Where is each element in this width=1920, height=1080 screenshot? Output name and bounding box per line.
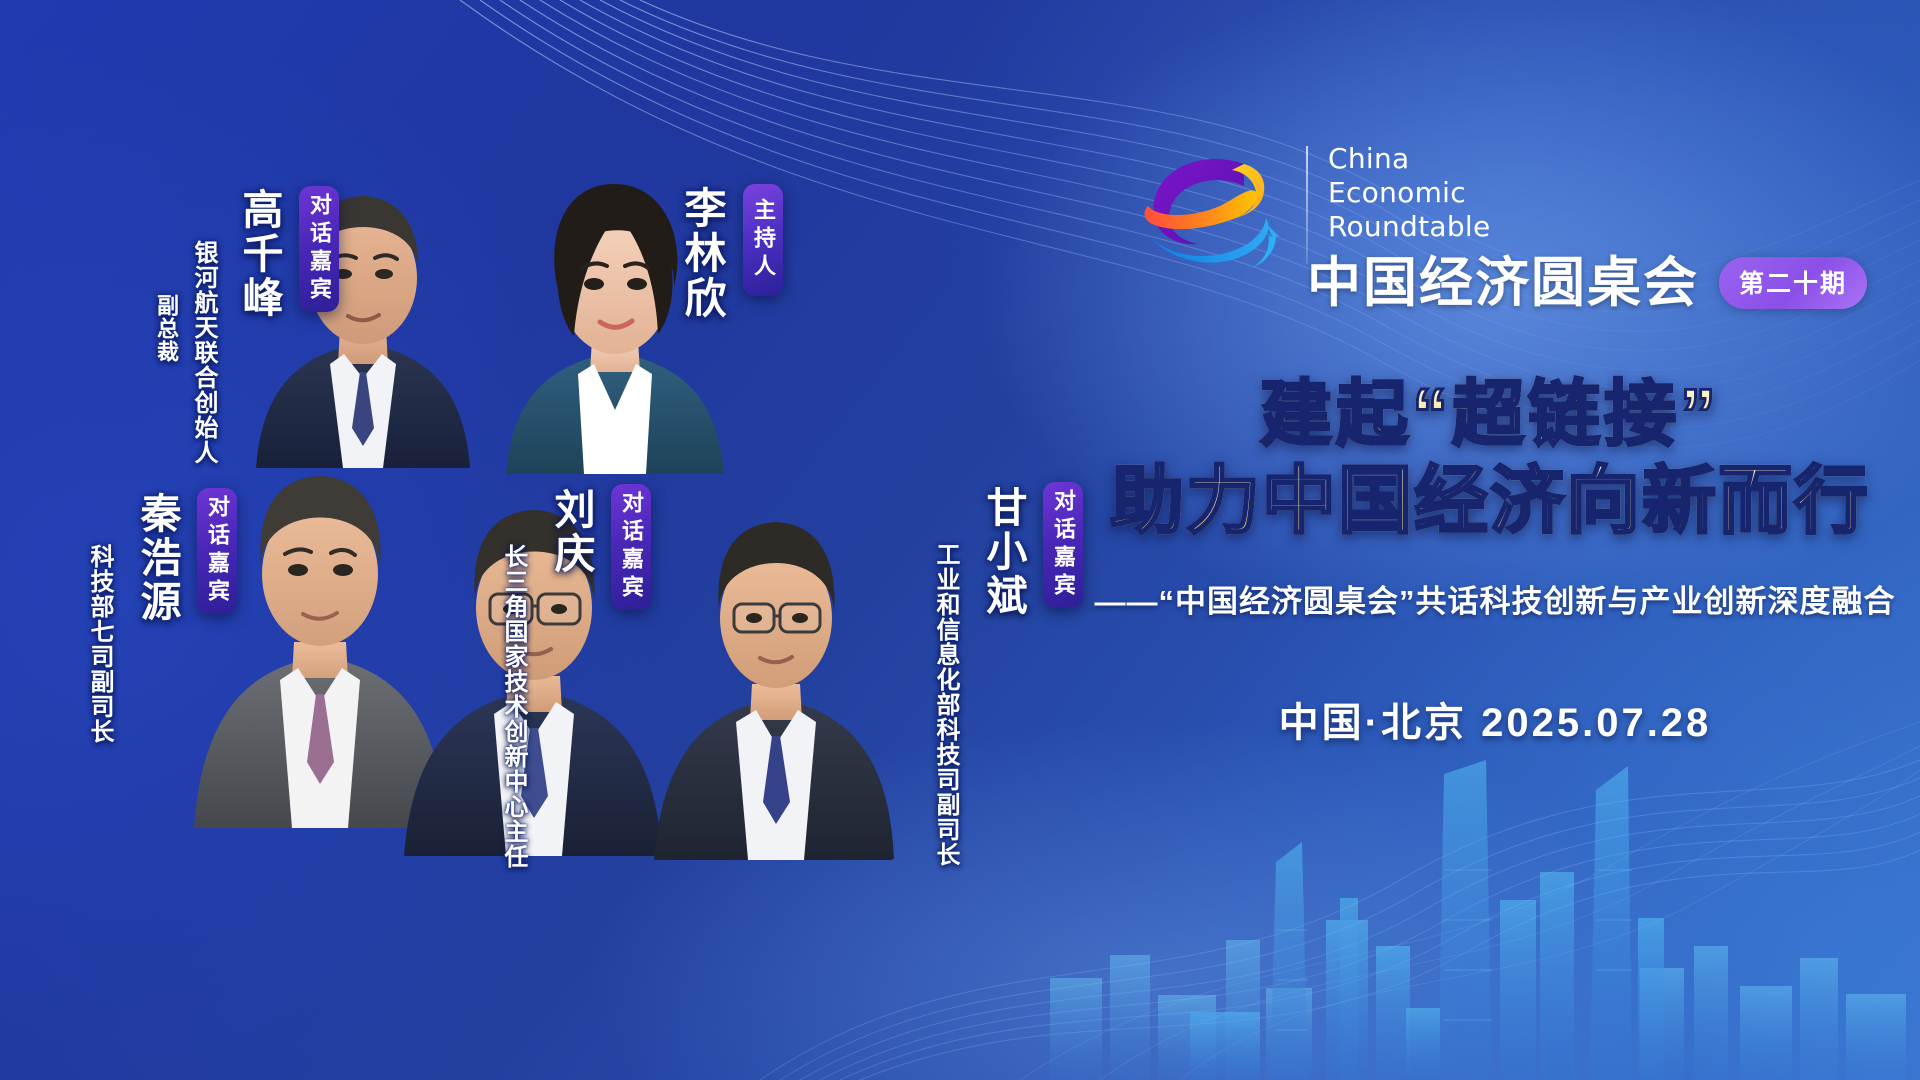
headline-block: 建起“超链接” 助力中国经济向新而行 (1080, 372, 1900, 544)
role-line-2: 副总裁 (150, 294, 182, 363)
logo-divider (1306, 146, 1308, 264)
issue-badge: 第二十期 (1719, 257, 1867, 309)
label-group-lilinxin: 李林欣 主持人 (672, 186, 783, 321)
logo-en-line-1: China (1328, 142, 1491, 176)
label-group-qinhaoyuan: 科技部七司副司长 秦浩源 对话嘉宾 (82, 492, 237, 744)
person-name: 刘庆 (541, 488, 601, 576)
brand-chinese-row: 中国经济圆桌会 第二十期 (1307, 253, 1867, 313)
headline-line-2: 助力中国经济向新而行 (1080, 458, 1900, 544)
city-skyline (1040, 750, 1920, 1080)
headline-line-1: 建起“超链接” (1080, 372, 1900, 458)
role-badge: 对话嘉宾 (1043, 482, 1083, 608)
label-group-liuqing: 长三角国家技术创新中心主任 刘庆 对话嘉宾 (496, 488, 651, 869)
role-badge: 对话嘉宾 (611, 484, 651, 610)
event-location-date: 中国·北京 2025.07.28 (1080, 690, 1910, 748)
logo-en-line-3: Roundtable (1328, 210, 1491, 244)
china-economic-roundtable-e-logo-icon (1140, 140, 1292, 290)
logo-english-name: China Economic Roundtable (1328, 140, 1491, 244)
role-line-1: 工业和信息化部科技司副司长 (928, 542, 963, 867)
portrait-photo-icon (648, 450, 896, 860)
role-badge: 对话嘉宾 (299, 186, 339, 312)
role-badge: 对话嘉宾 (197, 488, 237, 614)
brand-chinese-name: 中国经济圆桌会 (1307, 253, 1699, 313)
person-name: 高千峰 (229, 188, 289, 320)
poster-canvas: 副总裁 银河航天联合创始人 高千峰 对话嘉宾 (0, 0, 1920, 1080)
role-badge: 主持人 (743, 184, 783, 296)
logo-en-line-2: Economic (1328, 176, 1491, 210)
person-name: 李林欣 (672, 186, 733, 321)
role-line-1: 长三角国家技术创新中心主任 (496, 544, 531, 869)
city-skyline-silhouette-icon (1040, 750, 1920, 1080)
portrait-ganxiaobin (648, 450, 896, 860)
role-line-1: 科技部七司副司长 (82, 544, 117, 744)
headline-subtitle: ——“中国经济圆桌会”共话科技创新与产业创新深度融合 (1080, 576, 1910, 621)
label-group-ganxiaobin: 工业和信息化部科技司副司长 甘小斌 对话嘉宾 (928, 486, 1083, 867)
person-name: 秦浩源 (127, 492, 187, 624)
person-name: 甘小斌 (973, 486, 1033, 618)
